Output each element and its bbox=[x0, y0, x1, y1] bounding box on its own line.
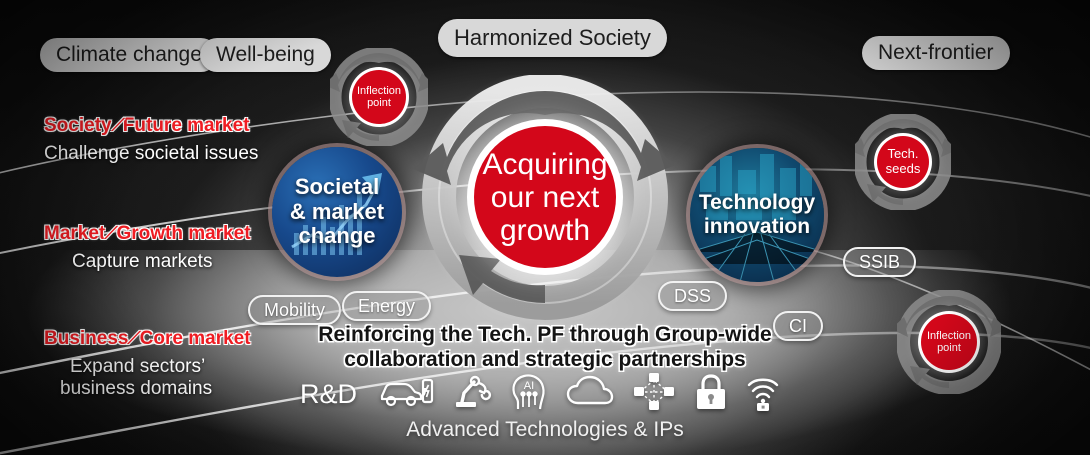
core-line2: our next bbox=[482, 181, 607, 214]
wireless-signal-icon bbox=[746, 372, 780, 412]
circle-label-line1: Societal bbox=[290, 175, 384, 200]
badge-line2: seeds bbox=[886, 162, 921, 177]
badge-label: Tech. seeds bbox=[877, 136, 929, 188]
headline-line2: collaboration and strategic partnerships bbox=[0, 347, 1090, 372]
core-acquiring-our-next-growth[interactable]: Acquiring our next growth bbox=[474, 126, 616, 268]
pill-label: Harmonized Society bbox=[454, 25, 651, 51]
pill-label: Climate change bbox=[56, 43, 202, 67]
label-part-a: Society bbox=[44, 115, 112, 136]
iot-network-icon bbox=[632, 372, 676, 412]
technology-icon-row: AI bbox=[378, 372, 780, 412]
circle-societal-market-change[interactable]: Societal & market change bbox=[272, 147, 402, 277]
label-market-growth-market: Market∕Growth market bbox=[44, 223, 251, 245]
headline-line1: Reinforcing the Tech. PF through Group-w… bbox=[0, 322, 1090, 347]
circle-label-line2: & market bbox=[290, 200, 384, 225]
svg-text:AI: AI bbox=[524, 380, 534, 392]
cloud-icon bbox=[566, 375, 614, 409]
pill-well-being[interactable]: Well-being bbox=[200, 38, 331, 72]
circle-label-line3: change bbox=[290, 224, 384, 249]
badge-inflection-point-top[interactable]: Inflection point bbox=[330, 48, 428, 146]
pill-label: Mobility bbox=[264, 300, 325, 321]
robot-arm-icon bbox=[452, 374, 492, 410]
pill-label: DSS bbox=[674, 286, 711, 307]
pill-climate-change[interactable]: Climate change bbox=[40, 38, 218, 72]
lock-security-icon bbox=[694, 373, 728, 411]
diagram-canvas: Climate change Well-being Harmonized Soc… bbox=[0, 0, 1090, 455]
circle-label-line2: innovation bbox=[699, 215, 815, 239]
core-line3: growth bbox=[482, 214, 607, 247]
label-business-domains: business domains bbox=[60, 378, 212, 400]
pill-label: Well-being bbox=[216, 43, 315, 67]
pill-label: Next-frontier bbox=[878, 41, 994, 65]
rnd-label: R&D bbox=[300, 379, 357, 410]
central-growth-cycle: Acquiring our next growth bbox=[395, 75, 695, 330]
badge-tech-seeds[interactable]: Tech. seeds bbox=[855, 114, 951, 210]
pill-label: Energy bbox=[358, 296, 415, 317]
pill-label: SSIB bbox=[859, 252, 900, 273]
label-part-b: Future market bbox=[123, 115, 250, 136]
ev-charging-car-icon bbox=[378, 374, 434, 410]
ai-brain-head-icon: AI bbox=[510, 373, 548, 411]
pill-ssib[interactable]: SSIB bbox=[843, 247, 916, 277]
label-part-a: Market bbox=[44, 223, 105, 244]
pill-mobility[interactable]: Mobility bbox=[248, 295, 341, 325]
label-society-future-market: Society∕Future market bbox=[44, 115, 249, 137]
pill-energy[interactable]: Energy bbox=[342, 291, 431, 321]
circle-technology-innovation[interactable]: Technology innovation bbox=[690, 148, 824, 282]
badge-line1: Tech. bbox=[886, 147, 921, 162]
pill-harmonized-society[interactable]: Harmonized Society bbox=[438, 19, 667, 57]
badge-label: Inflection point bbox=[352, 70, 406, 124]
label-capture-markets: Capture markets bbox=[72, 251, 212, 273]
label-challenge-societal-issues: Challenge societal issues bbox=[44, 143, 258, 165]
core-line1: Acquiring bbox=[482, 148, 607, 181]
pill-dss[interactable]: DSS bbox=[658, 281, 727, 311]
circle-label-line1: Technology bbox=[699, 191, 815, 215]
label-part-b: Growth market bbox=[116, 223, 250, 244]
pill-next-frontier[interactable]: Next-frontier bbox=[862, 36, 1010, 70]
badge-line1: Inflection bbox=[357, 85, 401, 97]
footer-advanced-technologies: Advanced Technologies & IPs bbox=[0, 418, 1090, 442]
badge-line2: point bbox=[357, 97, 401, 109]
